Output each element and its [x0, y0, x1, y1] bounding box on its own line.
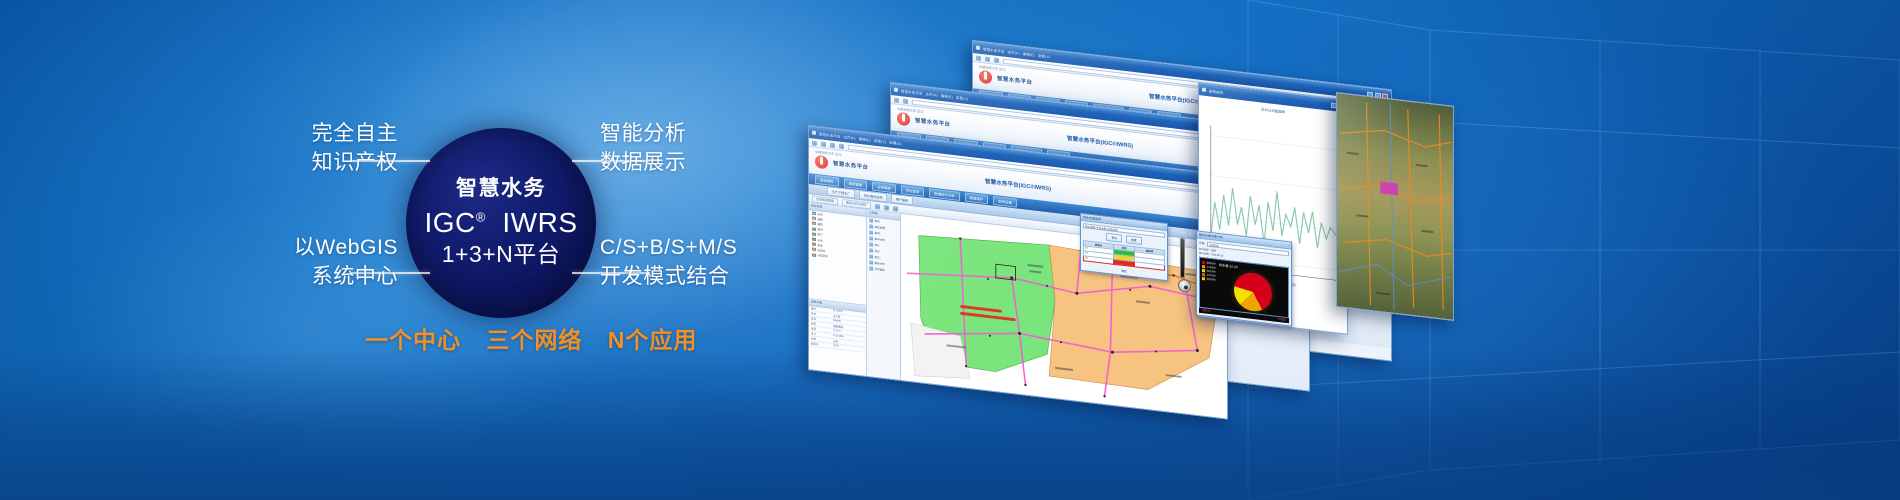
- buffer-icon: [869, 236, 873, 240]
- window-menu-edit[interactable]: 编辑(E): [941, 92, 953, 98]
- pie-chart-area: 供水量 52.23: [1219, 262, 1286, 315]
- tool-label: 量测: [875, 231, 880, 236]
- slider-track[interactable]: [1180, 238, 1185, 279]
- window-menu-edit[interactable]: 编辑(E): [859, 135, 871, 141]
- hub-line-1: 智慧水务: [456, 176, 546, 202]
- layer-swatch-icon: [812, 227, 816, 230]
- layer-label: 建筑: [818, 222, 823, 227]
- home-icon[interactable]: [839, 143, 844, 149]
- dialog-ok-button[interactable]: 查询: [1106, 233, 1122, 242]
- layer-label: 管线: [818, 227, 823, 232]
- window-title: 智慧水务平台: [983, 46, 1005, 54]
- terrain-map-canvas[interactable]: [1337, 93, 1453, 320]
- window-menu-file[interactable]: 文件(F): [926, 91, 938, 97]
- window-icon: [1202, 87, 1206, 91]
- app-title: 智慧水务平台(IGC®IWRS): [985, 177, 1051, 193]
- window-menu-edit[interactable]: 编辑(E): [1023, 50, 1035, 56]
- locate-icon: [869, 254, 873, 258]
- layer-tree-panel[interactable]: 图层管理 水系 道路 建筑 管线 阀门 水表 泵站 监测点 行政区划 属性列表: [809, 203, 867, 376]
- tagline-part-3: N个应用: [608, 327, 698, 353]
- dialog-close-icon[interactable]: ×: [1288, 243, 1290, 247]
- forward-icon[interactable]: [903, 98, 908, 104]
- legend-swatch-icon: [1202, 269, 1205, 272]
- window-icon: [894, 87, 898, 91]
- tagline-part-1: 一个中心: [365, 327, 461, 353]
- brand-name: 智慧水务平台: [915, 116, 950, 128]
- banner-stage: 智慧水务平台 文件(F) 编辑(E) 查看(V) 中国地质大学·武汉 智: [0, 0, 1900, 500]
- zoom-in-icon[interactable]: [875, 203, 880, 209]
- hub-line-2: IGC® IWRS: [424, 205, 577, 240]
- feature-label-bottom-left: 以WebGIS 系统中心: [228, 234, 398, 291]
- query-icon: [869, 218, 873, 222]
- company-logo-icon: [897, 111, 910, 126]
- dialog-cancel-button[interactable]: 重置: [1126, 235, 1142, 244]
- nav-link-help[interactable]: 帮助: [1189, 231, 1195, 236]
- dialog-title: 供水水质监测: [1083, 215, 1101, 221]
- banner-tagline: 一个中心 三个网络 N个应用: [365, 321, 697, 355]
- back-icon[interactable]: [812, 140, 817, 146]
- app-title: 智慧水务平台(IGC®IWRS): [1067, 134, 1133, 150]
- statistics-icon: [869, 242, 873, 246]
- map-zoom-slider[interactable]: [1178, 238, 1186, 293]
- dialog-body: 区域: 全部区域 分析时段：日报 统计日期：2019-08-15 居民用水 工业…: [1197, 238, 1291, 325]
- layer-swatch-icon: [812, 248, 816, 251]
- feature-label-top-left: 完全自主 知识产权: [238, 120, 398, 177]
- feature-line-2: 系统中心: [228, 263, 398, 292]
- layer-label: 阀门: [818, 232, 823, 237]
- layer-label: 水系: [818, 212, 823, 217]
- properties-panel: 属性列表 编号PL00231 名称主干管 管径DN600 材质球墨铸铁 埋深2.…: [809, 298, 866, 353]
- pan-navigator-icon[interactable]: [1178, 279, 1191, 294]
- brand-name: 智慧水务平台: [833, 159, 868, 171]
- layer-swatch-icon: [812, 232, 816, 235]
- tool-label: 查询: [875, 219, 880, 224]
- feature-line-1: 智能分析: [600, 120, 686, 149]
- dialog-pipe-quality[interactable]: 供水水质监测 × 供水管网 节点水质 实时监测 查询 重置 监测点 状态 超标项…: [1080, 213, 1168, 281]
- feature-line-1: C/S+B/S+M/S: [600, 234, 737, 263]
- layer-label: 监测点: [818, 248, 826, 253]
- route-icon: [869, 260, 873, 264]
- feature-line-2: 数据展示: [600, 149, 686, 178]
- tool-label: 定位: [875, 255, 880, 260]
- window-title: 趋势曲线: [1209, 88, 1223, 95]
- dialog-close-icon[interactable]: ×: [1164, 225, 1166, 229]
- pan-icon[interactable]: [893, 206, 898, 212]
- pie-chart: [1234, 271, 1272, 313]
- layer-swatch-icon: [812, 243, 816, 246]
- tool-label: 统计: [875, 243, 880, 248]
- layer-swatch-icon: [812, 217, 816, 220]
- feature-label-top-right: 智能分析 数据展示: [600, 120, 686, 177]
- layer-swatch-icon: [812, 238, 816, 241]
- app-window-terrain[interactable]: [1336, 92, 1454, 321]
- feature-label-bottom-right: C/S+B/S+M/S 开发模式结合: [600, 234, 737, 291]
- label-icon: [869, 248, 873, 252]
- legend-swatch-icon: [1202, 277, 1205, 280]
- measure-icon: [869, 230, 873, 234]
- legend-label: 其他用水: [1207, 277, 1217, 282]
- legend-swatch-icon: [1202, 273, 1205, 276]
- filter-label: 区域:: [1199, 241, 1205, 246]
- feature-line-1: 完全自主: [238, 120, 398, 149]
- window-menu-file[interactable]: 文件(F): [1008, 49, 1020, 55]
- nav-link-settings[interactable]: 设置: [1180, 230, 1186, 235]
- registered-mark-icon: ®: [476, 209, 486, 224]
- center-hub: 智慧水务 IGC® IWRS 1+3+N平台: [406, 128, 596, 318]
- window-menu-file[interactable]: 文件(F): [844, 134, 856, 140]
- layer-label: 水表: [818, 238, 823, 243]
- legend-item: 其他用水: [1202, 276, 1216, 282]
- brand-name: 智慧水务平台: [997, 74, 1032, 86]
- window-title: 智慧水务平台: [901, 88, 923, 96]
- footer-nrw: 产销差: [1278, 317, 1286, 322]
- window-icon: [812, 130, 816, 134]
- window-icon: [976, 45, 980, 49]
- dialog-water-balance[interactable]: 管网水量平衡分析 × 区域: 全部区域 分析时段：日报 统计日期：2019-08…: [1196, 230, 1292, 326]
- layer-swatch-icon: [812, 212, 816, 215]
- pie-chart-legend: 居民用水 工业用水 商业用水 公共用水 其他用水: [1202, 260, 1216, 307]
- layer-swatch-icon: [812, 222, 816, 225]
- company-logo-icon: [815, 154, 828, 169]
- window-title: 智慧水务平台: [819, 131, 841, 139]
- hub-line-3: 1+3+N平台: [442, 240, 561, 270]
- hub-brand-iwrs: IWRS: [502, 207, 577, 238]
- layer-label: 泵站: [818, 243, 823, 248]
- feature-line-2: 开发模式结合: [600, 263, 737, 292]
- window-menu-view[interactable]: 查看(V): [956, 94, 968, 100]
- dialog-body: 供水管网 节点水质 实时监测 查询 重置 监测点 状态 超标项 1#: [1081, 221, 1167, 280]
- window-menu-view[interactable]: 查看(V): [1038, 52, 1050, 58]
- layer-tree-list[interactable]: 水系 道路 建筑 管线 阀门 水表 泵站 监测点 行政区划: [809, 210, 866, 305]
- window-menu-fav[interactable]: 收藏(A): [889, 139, 901, 145]
- forward-icon[interactable]: [821, 141, 826, 147]
- footer-loss-rate: 漏损率: [1202, 308, 1210, 313]
- back-icon[interactable]: [894, 97, 899, 103]
- subnav-item-service[interactable]: 用户服务: [891, 194, 913, 206]
- attribute-icon: [869, 224, 873, 228]
- tool-label: 打印输出: [875, 267, 885, 272]
- print-icon: [869, 266, 873, 270]
- back-icon[interactable]: [976, 55, 981, 61]
- forward-icon[interactable]: [985, 56, 990, 62]
- feature-line-2: 知识产权: [238, 149, 398, 178]
- legend-swatch-icon: [1202, 261, 1205, 264]
- zoom-out-icon[interactable]: [884, 204, 889, 210]
- window-menu-view[interactable]: 查看(V): [874, 137, 886, 143]
- refresh-icon[interactable]: [830, 142, 835, 148]
- layer-label: 行政区划: [818, 253, 828, 258]
- feature-line-1: 以WebGIS: [228, 234, 398, 263]
- company-logo-icon: [979, 69, 992, 84]
- legend-swatch-icon: [1202, 265, 1205, 268]
- layer-swatch-icon: [812, 253, 816, 256]
- layer-label: 道路: [818, 217, 823, 222]
- gis-tool-panel[interactable]: 工具箱 查询 属性查看 量测 缓冲分析 统计 标注 定位 路径分析 打印输出: [867, 210, 901, 380]
- subnav-item-network[interactable]: 供水管网监控: [859, 190, 887, 202]
- screenshot-stack: 智慧水务平台 文件(F) 编辑(E) 查看(V) 中国地质大学·武汉 智: [790, 40, 1510, 370]
- refresh-icon[interactable]: [994, 57, 999, 63]
- hub-brand-igc: IGC: [424, 207, 475, 238]
- tagline-part-2: 三个网络: [486, 327, 582, 353]
- tool-label: 标注: [875, 249, 880, 254]
- subnav-item-plant[interactable]: 生产下辖水厂: [827, 186, 855, 198]
